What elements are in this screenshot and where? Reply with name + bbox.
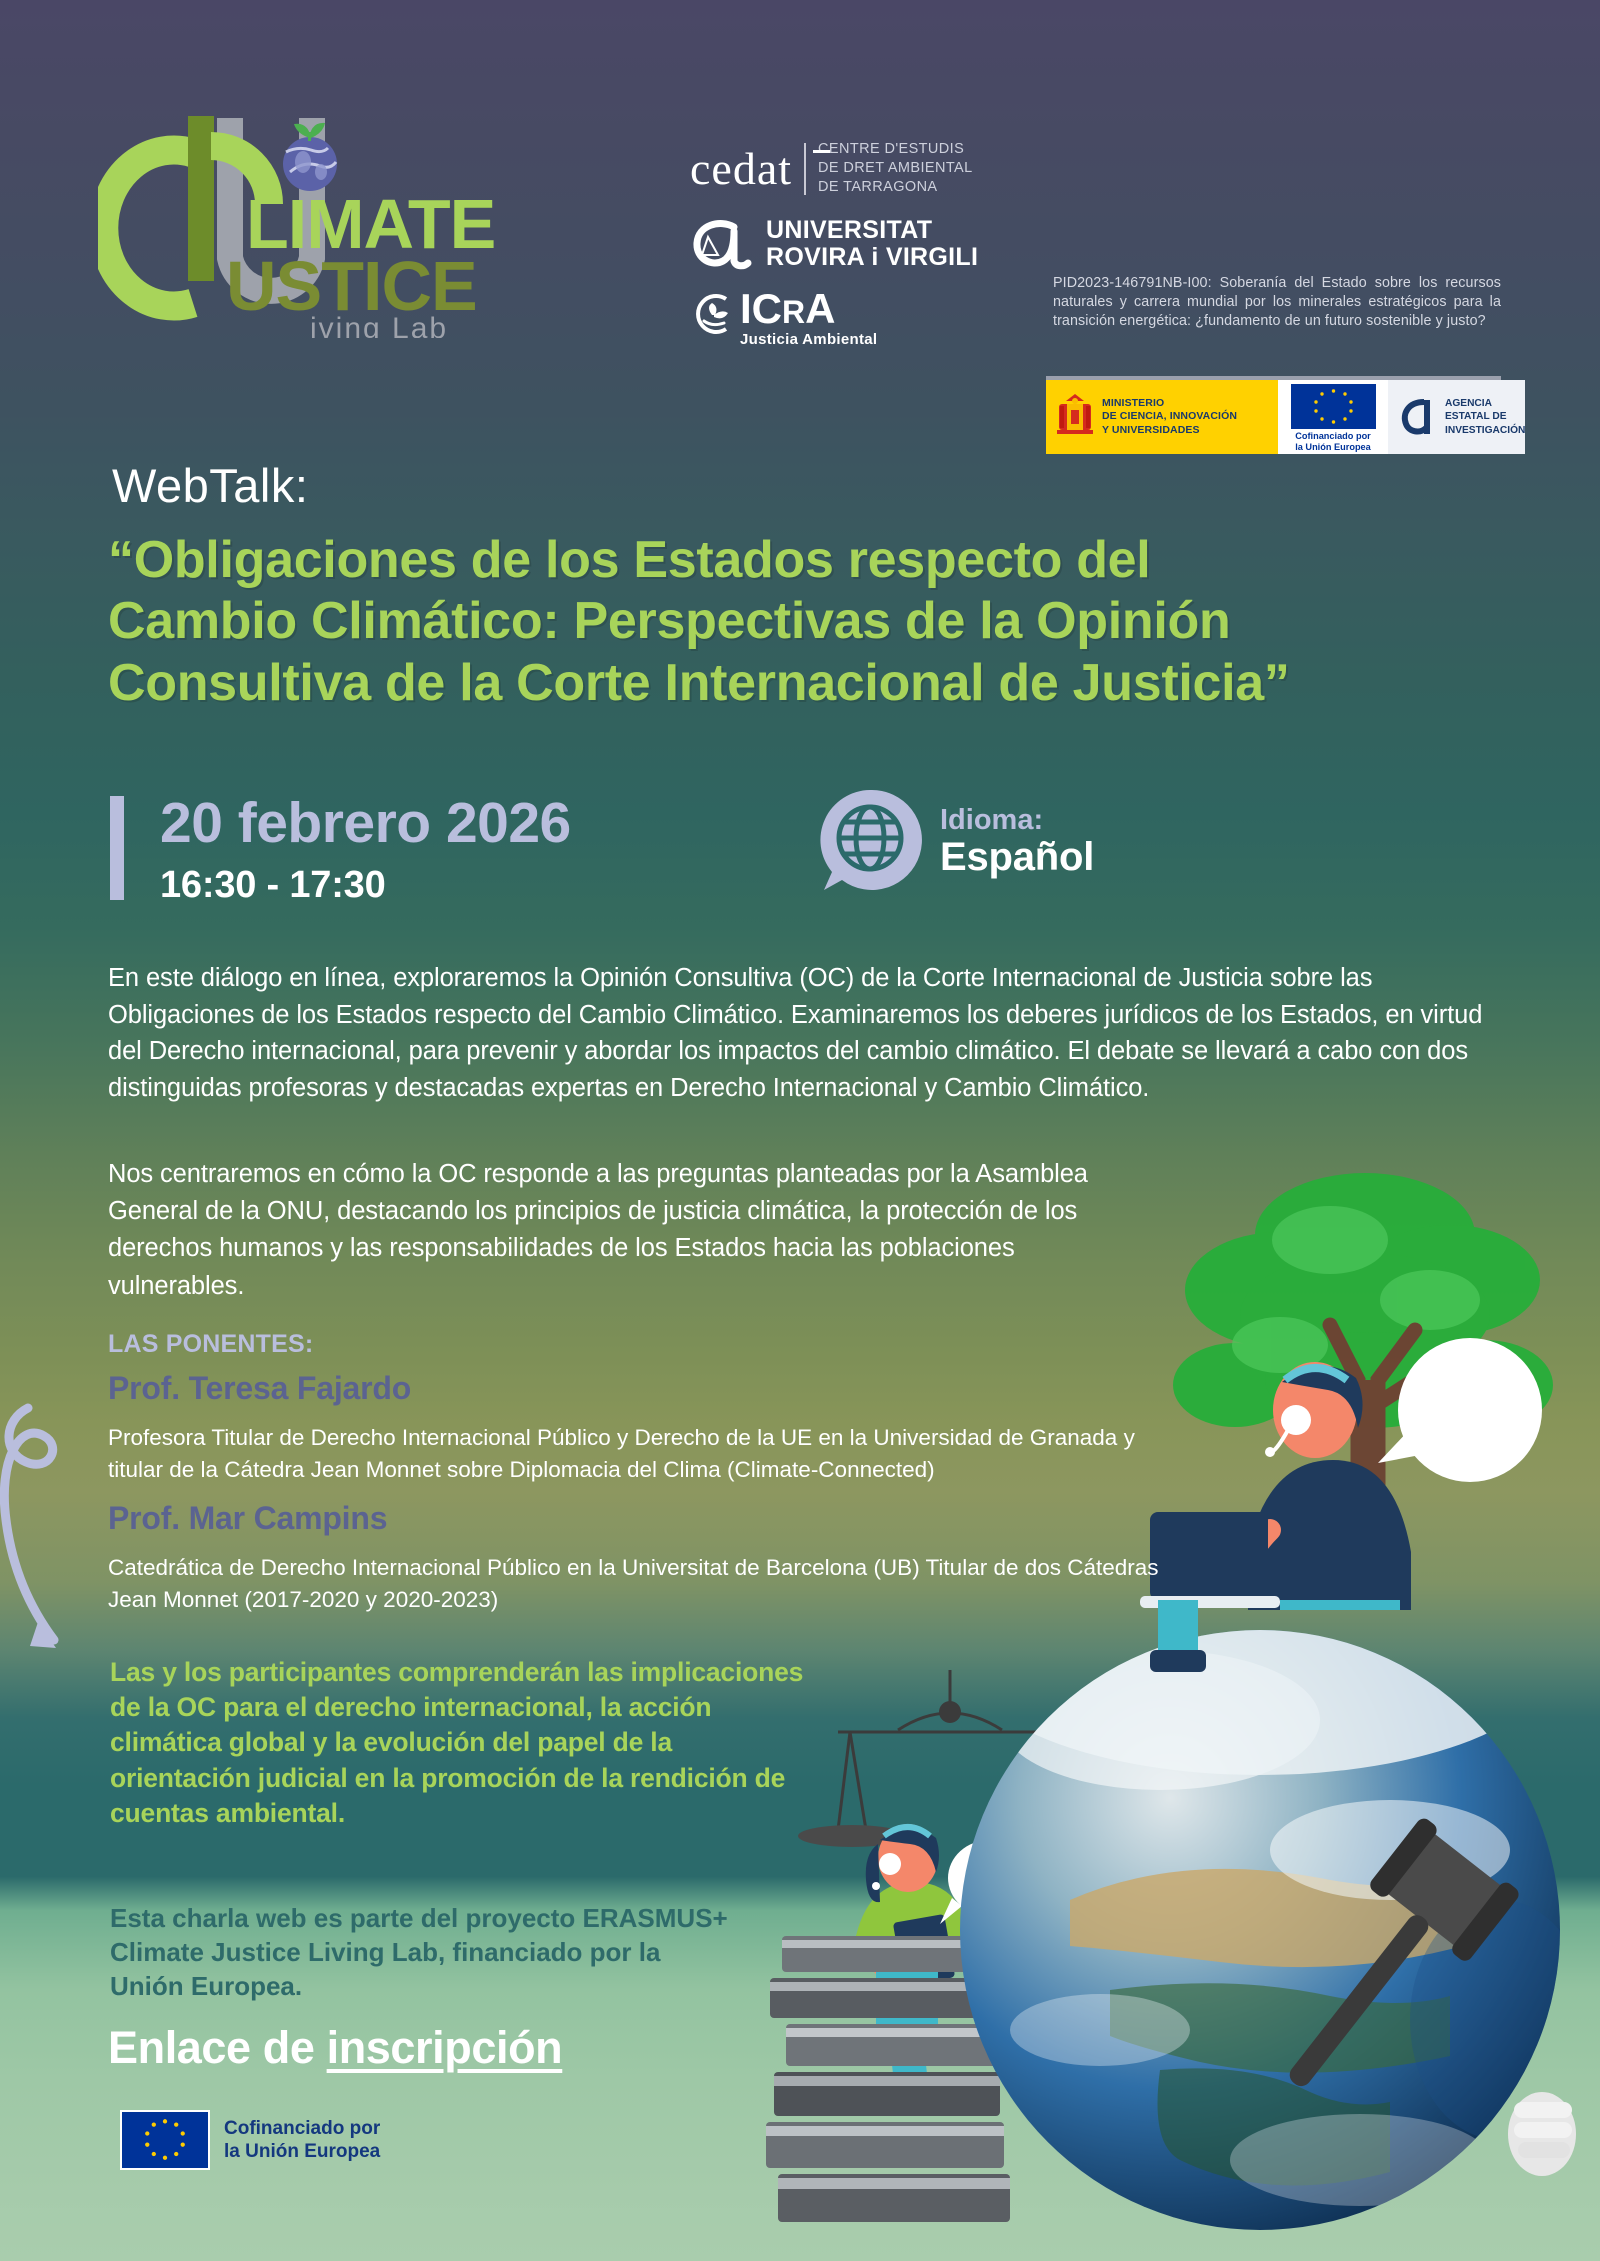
eu-cofunding-logo-footer: Cofinanciado por la Unión Europea	[120, 2110, 380, 2170]
event-time: 16:30 - 17:30	[160, 864, 386, 907]
date-accent-bar	[110, 796, 124, 900]
urv-line2: ROVIRA i VIRGILI	[766, 244, 978, 272]
urv-brushstroke-a-icon	[690, 213, 752, 275]
poster-canvas: LIMATE USTICE iving Lab cedat CENTRE D'E…	[0, 0, 1600, 2261]
speech-bubble-small-icon	[940, 1840, 1032, 1924]
icra-ic: IC	[740, 285, 782, 332]
eu-cofunding-footer-text: Cofinanciado por la Unión Europea	[224, 2117, 380, 2163]
tree-with-laptop-person-illustration	[1130, 1130, 1600, 1610]
project-funding-note: Esta charla web es parte del proyecto ER…	[110, 1902, 730, 2003]
title-line-2: Cambio Climático: Perspectivas de la Opi…	[108, 591, 1538, 652]
cedat-divider	[804, 143, 806, 195]
cjll-logo-graphic: LIMATE USTICE iving Lab	[98, 88, 498, 338]
focus-paragraph: Nos centraremos en cómo la OC responde a…	[108, 1156, 1138, 1305]
icra-logo: ICRA Justicia Ambiental	[690, 289, 1020, 348]
book-stack-illustration	[760, 1930, 1050, 2260]
urv-line1: UNIVERSITAT	[766, 217, 978, 245]
eu-flag-small-icon	[1291, 384, 1376, 429]
eu-stars-footer	[122, 2112, 208, 2168]
eu-small-line2: la Unión Europea	[1295, 442, 1371, 453]
icra-a: A	[805, 285, 835, 332]
eu-footer-line2: la Unión Europea	[224, 2140, 380, 2163]
ministry-line3: Y UNIVERSIDADES	[1102, 424, 1237, 437]
language-text: Idioma: Español	[940, 801, 1094, 879]
cedat-subtitle: CENTRE D'ESTUDIS DE DRET AMBIENTAL DE TA…	[818, 140, 973, 197]
speakers-heading: LAS PONENTES:	[108, 1330, 313, 1359]
climate-justice-living-lab-logo: LIMATE USTICE iving Lab	[98, 88, 498, 338]
speech-bubble-icon	[1378, 1338, 1542, 1482]
registration-link[interactable]: Enlace de inscripción	[108, 2022, 562, 2074]
eu-small-line1: Cofinanciado por	[1295, 431, 1371, 442]
urv-logo: UNIVERSITAT ROVIRA i VIRGILI	[690, 213, 1020, 275]
cedat-sub-line2: DE DRET AMBIENTAL	[818, 159, 973, 178]
title-line-3: Consultiva de la Corte Internacional de …	[108, 653, 1538, 714]
urv-wordmark: UNIVERSITAT ROVIRA i VIRGILI	[766, 217, 978, 272]
page-title: “Obligaciones de los Estados respecto de…	[108, 530, 1538, 714]
person-laptop-figure	[1140, 1362, 1411, 1610]
spain-ministry-logo: MINISTERIO DE CIENCIA, INNOVACIÓN Y UNIV…	[1046, 380, 1278, 454]
icra-leaf-hand-icon	[690, 291, 736, 337]
project-pid-text: PID2023-146791NB-I00: Soberanía del Esta…	[1053, 274, 1501, 331]
learning-outcome-text: Las y los participantes comprenderán las…	[110, 1655, 810, 1831]
aei-line1: AGENCIA	[1445, 397, 1525, 410]
aei-line3: INVESTIGACIÓN	[1445, 424, 1525, 437]
language-block: Idioma: Español	[818, 788, 1094, 892]
aei-line2: ESTATAL DE	[1445, 410, 1525, 423]
registration-link-prefix: Enlace de	[108, 2022, 327, 2073]
partner-logos: cedat CENTRE D'ESTUDIS DE DRET AMBIENTAL…	[690, 140, 1020, 348]
cedat-word-text: cedat	[690, 143, 792, 194]
spain-ministry-text: MINISTERIO DE CIENCIA, INNOVACIÓN Y UNIV…	[1102, 397, 1237, 437]
person-reading-figure	[852, 1824, 974, 2114]
aei-logo: AGENCIA ESTATAL DE INVESTIGACIÓN	[1388, 380, 1525, 454]
webtalk-kicker: WebTalk:	[112, 458, 308, 513]
spain-coat-of-arms-icon	[1055, 392, 1095, 442]
logo-text-living-lab: iving Lab	[310, 312, 448, 338]
justice-scales-reader-illustration	[780, 1660, 1110, 2130]
globe-speech-bubble-icon	[818, 788, 922, 892]
language-label: Idioma:	[940, 805, 1094, 835]
speaker-1-bio: Profesora Titular de Derecho Internacion…	[108, 1422, 1168, 1486]
eu-footer-line1: Cofinanciado por	[224, 2117, 380, 2140]
cedat-macron	[813, 150, 830, 153]
aei-ei-monogram-icon	[1394, 394, 1440, 440]
globe-icon	[283, 123, 337, 191]
icra-wordmark: ICRA	[740, 289, 877, 329]
title-line-1: “Obligaciones de los Estados respecto de…	[108, 530, 1538, 591]
gavel-icon	[1244, 1815, 1576, 2176]
funder-logos-strip: MINISTERIO DE CIENCIA, INNOVACIÓN Y UNIV…	[1046, 376, 1501, 454]
cedat-sub-line3: DE TARRAGONA	[818, 178, 973, 197]
event-date: 20 febrero 2026	[160, 790, 571, 856]
registration-link-word[interactable]: inscripción	[327, 2022, 563, 2073]
icra-text-block: ICRA Justicia Ambiental	[740, 289, 877, 348]
intro-paragraph: En este diálogo en línea, exploraremos l…	[108, 960, 1508, 1107]
eu-cofunding-logo-small: Cofinanciado por la Unión Europea	[1278, 380, 1388, 454]
speaker-1-name: Prof. Teresa Fajardo	[108, 1370, 411, 1407]
speaker-2-name: Prof. Mar Campins	[108, 1500, 387, 1537]
cedat-logo: cedat CENTRE D'ESTUDIS DE DRET AMBIENTAL…	[690, 140, 1020, 197]
earth-globe-with-gavel-illustration	[960, 1600, 1600, 2261]
eu-stars-small	[1291, 384, 1376, 429]
speaker-2-bio: Catedrática de Derecho Internacional Púb…	[108, 1552, 1168, 1616]
aei-text: AGENCIA ESTATAL DE INVESTIGACIÓN	[1445, 397, 1525, 437]
ministry-line2: DE CIENCIA, INNOVACIÓN	[1102, 410, 1237, 423]
ministry-line1: MINISTERIO	[1102, 397, 1237, 410]
icra-subtitle: Justicia Ambiental	[740, 331, 877, 348]
language-value: Español	[940, 835, 1094, 879]
cedat-sub-line1: CENTRE D'ESTUDIS	[818, 140, 973, 159]
eu-flag-icon	[120, 2110, 210, 2170]
logo-row: LIMATE USTICE iving Lab cedat CENTRE D'E…	[0, 60, 1600, 360]
curved-arrow-icon	[0, 1400, 110, 1660]
cedat-wordmark: cedat	[690, 146, 792, 192]
eu-cofunding-text-small: Cofinanciado por la Unión Europea	[1295, 431, 1371, 453]
icra-r: R	[782, 294, 805, 330]
